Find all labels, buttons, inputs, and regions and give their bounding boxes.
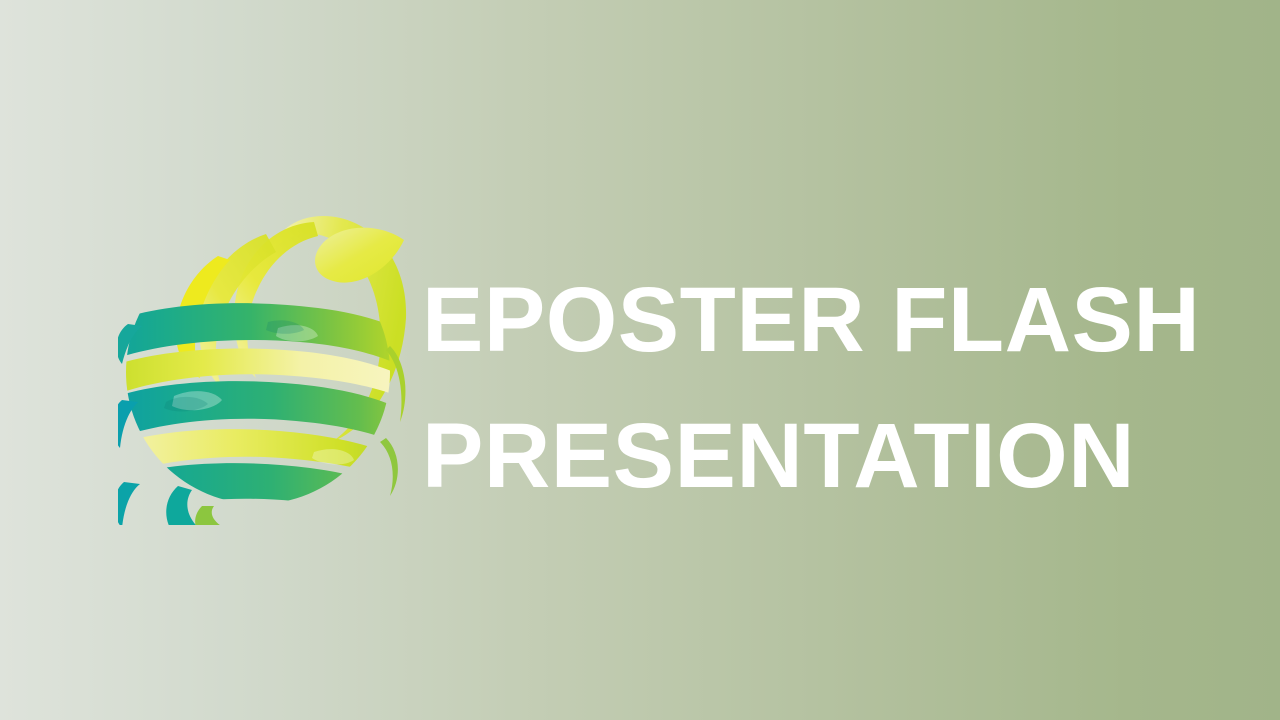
logo-globe-bands (118, 303, 410, 525)
spiral-ribbon-globe-logo (118, 200, 410, 525)
slide-title: EPOSTER FLASH PRESENTATION (422, 252, 1222, 524)
presentation-slide: EPOSTER FLASH PRESENTATION (0, 0, 1280, 720)
title-line-1: EPOSTER FLASH (422, 252, 1222, 388)
title-line-2: PRESENTATION (422, 388, 1222, 524)
